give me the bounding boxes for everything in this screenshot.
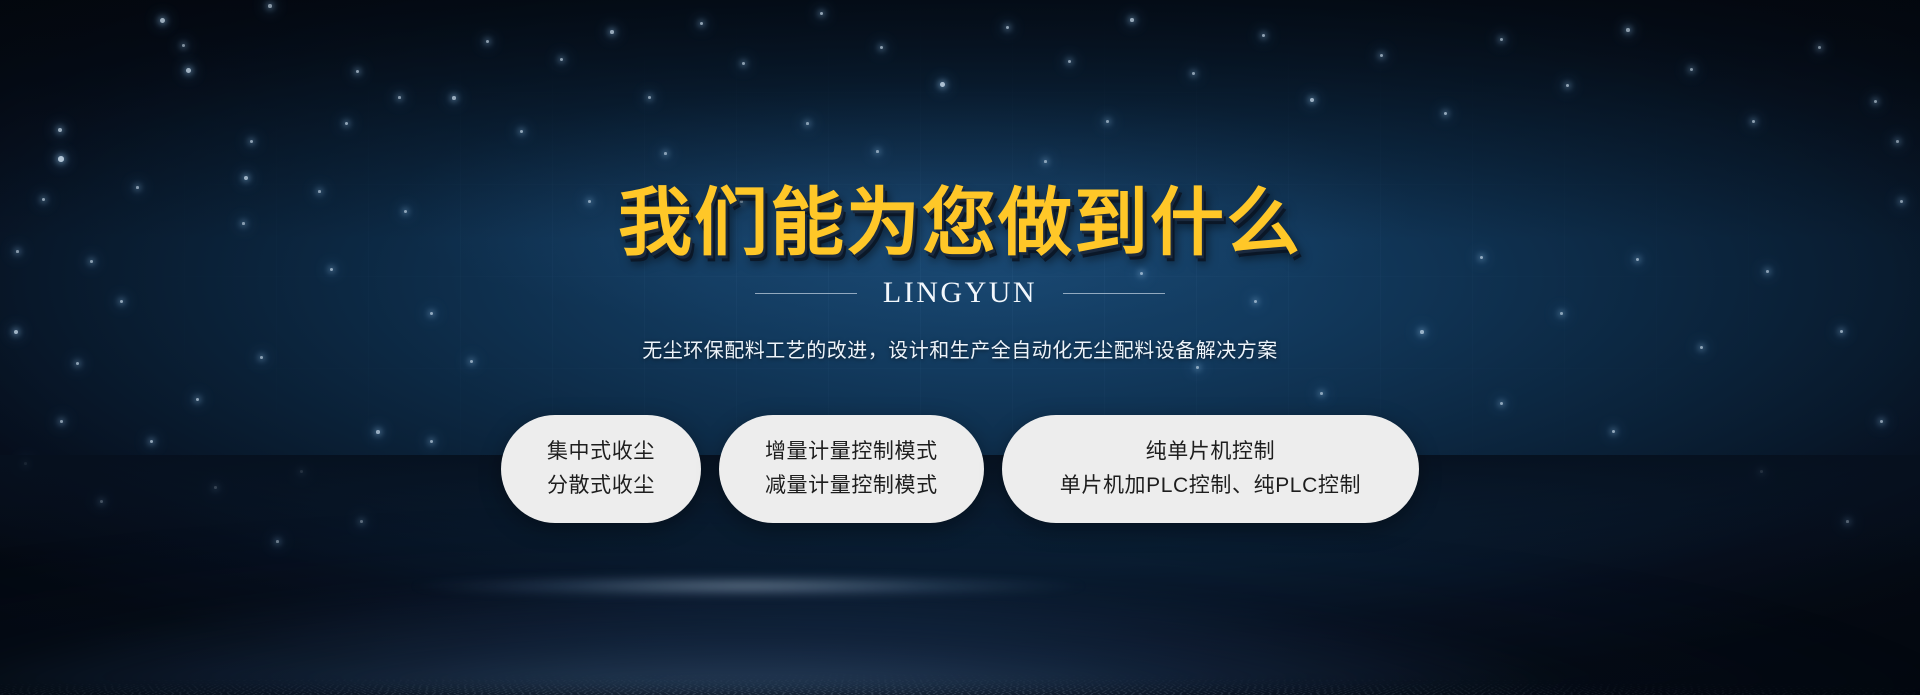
feature-pill-dust-collection[interactable]: 集中式收尘 分散式收尘 <box>501 415 701 523</box>
pill-line: 集中式收尘 <box>547 440 655 464</box>
feature-pill-group: 集中式收尘 分散式收尘 增量计量控制模式 减量计量控制模式 纯单片机控制 单片机… <box>501 415 1419 523</box>
hero-banner: 我们能为您做到什么 LINGYUN 无尘环保配料工艺的改进，设计和生产全自动化无… <box>0 0 1920 695</box>
brand-subtitle: LINGYUN <box>883 276 1037 310</box>
divider-line-left <box>755 293 857 294</box>
banner-content: 我们能为您做到什么 LINGYUN 无尘环保配料工艺的改进，设计和生产全自动化无… <box>0 0 1920 695</box>
feature-pill-controller-type[interactable]: 纯单片机控制 单片机加PLC控制、纯PLC控制 <box>1002 415 1419 523</box>
pill-line: 纯单片机控制 <box>1146 440 1276 464</box>
divider-line-right <box>1063 293 1165 294</box>
pill-line: 增量计量控制模式 <box>765 440 938 464</box>
page-title: 我们能为您做到什么 <box>618 186 1302 260</box>
banner-description: 无尘环保配料工艺的改进，设计和生产全自动化无尘配料设备解决方案 <box>642 334 1278 363</box>
pill-line: 单片机加PLC控制、纯PLC控制 <box>1060 474 1361 498</box>
subtitle-row: LINGYUN <box>755 276 1165 310</box>
pill-line: 减量计量控制模式 <box>765 474 938 498</box>
pill-line: 分散式收尘 <box>547 474 655 498</box>
feature-pill-metering-control-mode[interactable]: 增量计量控制模式 减量计量控制模式 <box>719 415 984 523</box>
